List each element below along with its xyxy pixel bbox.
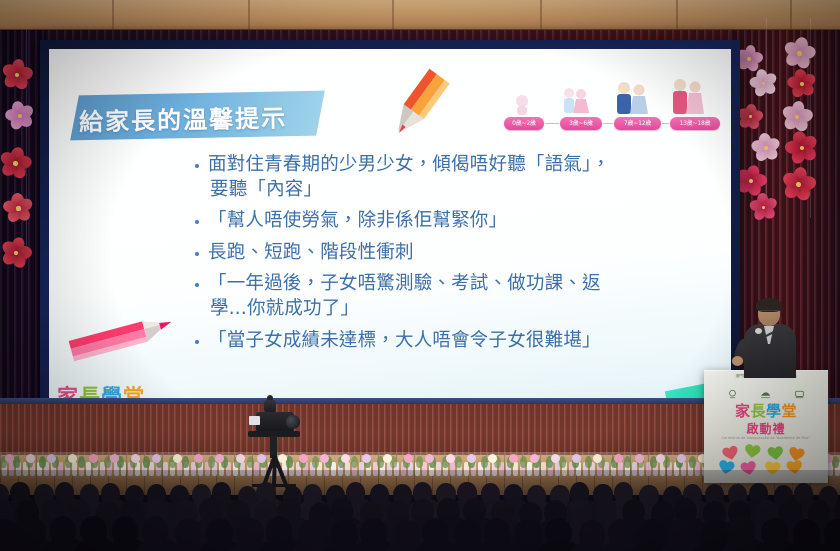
presentation-slide: 給家長的溫馨提示 (49, 49, 731, 401)
slide-bullet: 面對住青春期的少男少女，傾偈唔好聽「語氣」，要聽「內容」 (194, 153, 704, 202)
rail-bloom (551, 454, 560, 463)
rail-bloom (89, 454, 98, 463)
audience-member-head (595, 498, 618, 523)
decorative-flower (0, 145, 34, 182)
microphone-icon (755, 328, 762, 334)
rail-bloom (173, 454, 182, 463)
audience-member-head (545, 518, 572, 547)
rail-bloom (362, 454, 371, 463)
camera-screen (249, 416, 260, 425)
rail-bloom (152, 454, 161, 463)
slide-bullet: 「一年過後，子女唔驚測驗、考試、做功課、返學...你就成功了」 (194, 272, 704, 321)
decorative-flower (0, 235, 34, 272)
rail-foliage (143, 456, 150, 468)
rail-foliage (312, 456, 319, 468)
audience-member-head (484, 518, 511, 547)
decorative-flower (749, 193, 779, 223)
orange-pencil-icon (376, 65, 454, 143)
audience-member-head (175, 518, 202, 547)
audience-member-head (360, 518, 387, 547)
rail-foliage (832, 456, 839, 468)
pink-pencil-icon (57, 301, 187, 369)
ceiling-wood-beam (0, 0, 840, 33)
rail-foliage (416, 456, 423, 468)
rail-foliage (481, 456, 488, 468)
seal-icon-1 (726, 389, 739, 400)
audience-member-head (454, 519, 481, 548)
slide-bullet: 「幫人唔使勞氣，除非係佢幫緊你」 (194, 209, 704, 234)
audience-member-head (50, 516, 77, 545)
audience-member-head (331, 498, 354, 523)
rail-bloom (110, 454, 119, 463)
slide-title: 給家長的溫馨提示 (79, 94, 330, 141)
audience-member-head (331, 520, 358, 549)
audience-member-head (80, 516, 107, 545)
audience-member-head (142, 516, 169, 545)
rail-bloom (467, 454, 476, 463)
ceiling-seam (392, 0, 394, 33)
camera-lens-icon (286, 415, 300, 429)
rail-bloom (68, 454, 77, 463)
podium-seals (716, 387, 816, 401)
podium: 澳門特別行政區政府教育及青年發展局 家長學堂 啟動禮 Cerimónia de … (704, 370, 828, 483)
rail-bloom (509, 454, 518, 463)
audience-member-head (639, 519, 666, 548)
rail-bloom (320, 454, 329, 463)
decorative-flower (3, 193, 35, 225)
rail-bloom (530, 454, 539, 463)
bullet-line-2: 學...你就成功了」 (208, 297, 704, 322)
rail-foliage (624, 456, 631, 468)
decorative-flower (747, 67, 779, 99)
age-badge: 13歲~18歲 (670, 117, 720, 130)
audience-member-head (206, 518, 233, 547)
speaker-at-podium (742, 300, 798, 376)
seal-icon-3 (793, 389, 806, 400)
rail-foliage (689, 456, 696, 468)
rail-bloom (341, 454, 350, 463)
audience-member-head (422, 518, 449, 547)
rail-bloom (215, 454, 224, 463)
bullet-line-1: 「當子女成績未達標，大人唔會令子女很難堪」 (208, 330, 601, 351)
slide-bullet: 「當子女成績未達標，大人唔會令子女很難堪」 (194, 329, 704, 354)
podium-title-char-3: 學 (766, 402, 782, 420)
auditorium-scene: 給家長的溫馨提示 (0, 0, 840, 551)
audience-member-head (237, 518, 264, 547)
rail-bloom (446, 454, 455, 463)
audience-member-head (779, 498, 802, 523)
podium-title-char-4: 堂 (782, 402, 798, 420)
rail-bloom (47, 454, 56, 463)
rail-bloom (614, 454, 623, 463)
rail-foliage (208, 456, 215, 468)
age-badge-list: 0歲~2歲3歲~6歲7歲~12歲13歲~18歲 (504, 117, 716, 132)
bullet-line-1: 長跑、短跑、階段性衝刺 (208, 242, 414, 263)
podium-title: 家長學堂 (704, 403, 828, 420)
slide-bullet-list: 面對住青春期的少男少女，傾偈唔好聽「語氣」，要聽「內容」「幫人唔使勞氣，除非係佢… (194, 153, 704, 360)
projection-screen-frame: 給家長的溫馨提示 (40, 40, 740, 410)
seal-icon-2 (759, 389, 772, 400)
decorative-flower (783, 129, 822, 168)
age-badge-connector (662, 123, 669, 124)
rail-bloom (194, 454, 203, 463)
decorative-flower (781, 35, 818, 72)
audience-member-head (761, 518, 788, 547)
speaker-hand (732, 356, 743, 366)
rail-foliage (13, 456, 20, 468)
rail-foliage (455, 456, 462, 468)
rail-bloom (383, 454, 392, 463)
rail-foliage (520, 456, 527, 468)
age-group-figures-icon (504, 79, 716, 119)
podium-title-char-1: 家 (735, 402, 751, 420)
decorative-flower (750, 132, 782, 164)
decorative-flower (737, 103, 764, 130)
audience-member-head (579, 520, 606, 549)
rail-foliage (351, 456, 358, 468)
bullet-line-2: 要聽「內容」 (208, 178, 704, 203)
heart-icon (743, 442, 762, 460)
rail-foliage (39, 456, 46, 468)
age-badge: 7歲~12歲 (614, 117, 661, 130)
age-badge: 0歲~2歲 (504, 117, 544, 130)
decorative-flower (3, 99, 37, 133)
rail-bloom (593, 454, 602, 463)
rail-foliage (182, 456, 189, 468)
ceiling-seam (676, 0, 678, 33)
bullet-line-1: 「幫人唔使勞氣，除非係佢幫緊你」 (208, 210, 507, 231)
age-group-strip: 0歲~2歲3歲~6歲7歲~12歲13歲~18歲 (504, 79, 716, 141)
slide-bullet: 長跑、短跑、階段性衝刺 (194, 241, 704, 266)
audience-member-head (702, 520, 729, 549)
rail-bloom (425, 454, 434, 463)
podium-subtitle: 啟動禮 (704, 420, 828, 437)
decorative-flower (0, 58, 34, 92)
audience-silhouettes (0, 470, 840, 551)
speaker-glasses (759, 310, 779, 315)
rail-foliage (559, 456, 566, 468)
rail-bloom (404, 454, 413, 463)
rail-bloom (572, 454, 581, 463)
audience-member-head (393, 520, 420, 549)
rail-bloom (488, 454, 497, 463)
audience-member-head (20, 517, 47, 546)
rail-bloom (635, 454, 644, 463)
audience-member-head (112, 516, 139, 545)
flower-garland-right (736, 18, 840, 223)
age-badge-connector (545, 123, 559, 124)
rail-foliage (585, 456, 592, 468)
decorative-flower (779, 165, 817, 203)
rail-bloom (26, 454, 35, 463)
podium-title-char-2: 長 (750, 402, 766, 420)
audience-member-head (669, 518, 696, 547)
rail-bloom (131, 454, 140, 463)
rail-foliage (78, 456, 85, 468)
rail-bloom (5, 454, 14, 463)
audience-member-head (515, 519, 542, 548)
rail-bloom (656, 454, 665, 463)
ceiling-seam (540, 0, 542, 33)
bullet-line-1: 「一年過後，子女唔驚測驗、考試、做功課、返 (208, 273, 601, 294)
bullet-line-1: 面對住青春期的少男少女，傾偈唔好聽「語氣」， (208, 154, 610, 175)
podium-portuguese-line: Cerimónia de Inauguração da “Academia de… (704, 436, 828, 440)
age-badge-connector (603, 123, 613, 124)
ceiling-seam (248, 0, 250, 33)
garland-string (766, 18, 767, 218)
audience-member-head (608, 519, 635, 548)
age-badge: 3歲~6歲 (560, 117, 602, 130)
rail-bloom (677, 454, 686, 463)
audience-member-head (793, 519, 820, 548)
audience-member-head (266, 516, 293, 545)
audience-member-head (299, 519, 326, 548)
decorative-flower (786, 68, 818, 100)
ceiling-seam (112, 0, 114, 33)
audience-member-head (728, 516, 755, 545)
